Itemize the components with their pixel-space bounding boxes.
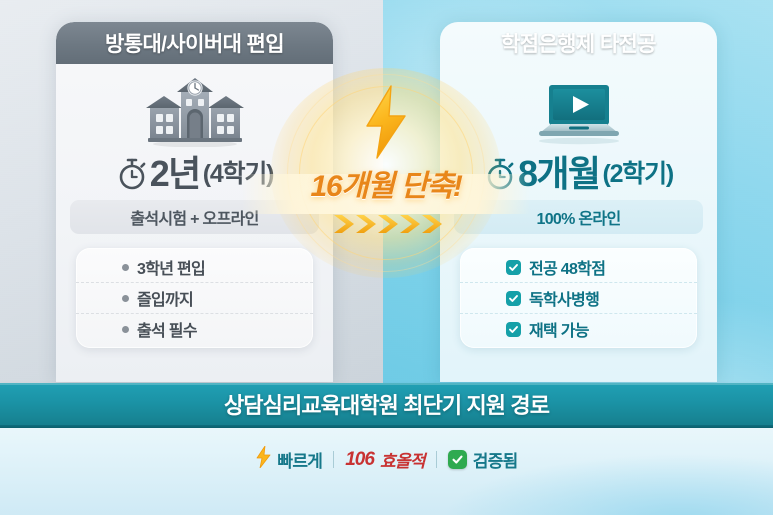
- list-item: 즐입까지: [76, 282, 313, 313]
- list-item: 3학년 편입: [76, 252, 313, 282]
- center-highlight-burst: 16개월 단축!: [286, 78, 486, 268]
- right-panel-header: 학점은행제 타전공: [440, 22, 717, 64]
- banner-title: 상담심리교육대학원 최단기 지원 경로: [224, 388, 549, 420]
- check-square-icon: [506, 260, 521, 275]
- right-duration-main: 8개월: [518, 156, 599, 192]
- stopwatch-icon: [116, 157, 148, 191]
- check-square-icon: [506, 322, 521, 337]
- bullet-dot-icon: [122, 295, 129, 302]
- list-item-label: 출석 필수: [137, 317, 197, 341]
- bottom-banner: 상담심리교육대학원 최단기 지원 경로: [0, 383, 773, 425]
- footer-chip-efficient: 106 효올적: [345, 447, 425, 472]
- left-duration-main: 2년: [150, 156, 200, 192]
- bullet-dot-icon: [122, 326, 129, 333]
- footer-chip-fast: 빠르게: [255, 446, 322, 473]
- footer-chip-row: 빠르게 106 효올적 검증됨: [255, 446, 517, 473]
- footer-divider: [436, 451, 437, 468]
- footer-divider: [333, 451, 334, 468]
- list-item-label: 독학사병행: [529, 286, 599, 310]
- list-item: 전공 48학점: [460, 252, 697, 282]
- lightning-bolt-icon: [358, 84, 414, 165]
- infographic-canvas: 방통대/사이버대 편입: [0, 0, 773, 515]
- footer-chip-label: 검증됨: [473, 447, 518, 472]
- check-square-icon: [448, 450, 467, 469]
- list-item-label: 즐입까지: [137, 286, 193, 310]
- burst-label: 16개월 단축!: [311, 161, 462, 205]
- list-item: 재택 가능: [460, 313, 697, 344]
- bullet-dot-icon: [122, 264, 129, 271]
- check-square-icon: [506, 291, 521, 306]
- footer-chip-verified: 검증됨: [448, 447, 518, 472]
- list-item-label: 전공 48학점: [529, 255, 605, 279]
- footer-chip-number: 106: [345, 449, 374, 471]
- list-item-label: 3학년 편입: [137, 255, 205, 279]
- list-item: 출석 필수: [76, 313, 313, 344]
- double-chevron-right-icon: [330, 211, 442, 237]
- list-item-label: 재택 가능: [529, 317, 589, 341]
- right-panel-title: 학점은행제 타전공: [501, 28, 656, 58]
- left-panel-header: 방통대/사이버대 편입: [56, 22, 333, 64]
- lightning-bolt-icon: [255, 446, 271, 473]
- right-duration-sub: (2학기): [602, 162, 673, 187]
- list-item: 독학사병행: [460, 282, 697, 313]
- left-panel-title: 방통대/사이버대 편입: [105, 28, 284, 58]
- footer-area: 빠르게 106 효올적 검증됨: [0, 428, 773, 515]
- footer-chip-label: 빠르게: [277, 447, 322, 472]
- footer-chip-label: 효올적: [380, 447, 425, 472]
- left-bullet-card: 3학년 편입 즐입까지 출석 필수: [76, 248, 313, 348]
- right-bullet-card: 전공 48학점 독학사병행 재택 가능: [460, 248, 697, 348]
